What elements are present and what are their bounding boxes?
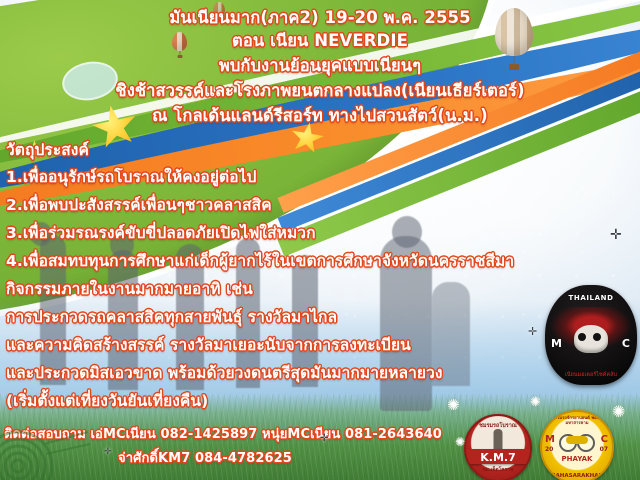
event-poster: มันเนียนมาก(ภาค2) 19-20 พ.ค. 2555 ตอน เน… [0, 0, 640, 480]
plus-marker-icon: ✛ [528, 326, 537, 337]
objective-item-2: 2.เพื่อพบปะสังสรรค์เพื่อนๆชาวคลาสสิค [6, 198, 272, 214]
phayak-arc-text: ชมรมรถจักรยานยนต์ พยัคฆ์มหาสารคาม [544, 416, 610, 425]
phayak-right-letter: C [601, 434, 608, 445]
skull-eye-right-icon [593, 333, 601, 341]
km7-badge: ชมรมรถโบราณ K.M.7 กม.เจ็ดโคราช [464, 414, 532, 480]
activity-line-4: และประกวดมิสเอวขาด พร้อมด้วยวงดนตรีสุดมั… [6, 366, 443, 382]
flower-icon: ✺ [455, 436, 465, 448]
plus-marker-icon: ✛ [320, 434, 328, 444]
spiral-decoration-icon [0, 414, 92, 480]
header-line-5: ณ โกลเด้นแลนด์รีสอร์ท ทางไปสวนสัตว์(น.ม.… [0, 108, 640, 125]
objective-item-1: 1.เพื่ออนุรักษ์รถโบราณให้คงอยู่ต่อไป [6, 170, 256, 186]
header-line-4: ชิงช้าสวรรค์และโรงภาพยนตกลางแปลง(เนียนเธ… [0, 83, 640, 100]
objectives-heading: วัตถุประสงค์ [6, 143, 89, 159]
header-line-3: พบกับงานย้อนยุคแบบเนียนๆ [0, 58, 640, 75]
skull-patch-right-letter: C [622, 337, 630, 350]
activity-line-3: และความคิดสร้างสรรค์ รางวัลมาเยอะนับจากก… [6, 338, 411, 354]
plus-marker-icon: ✛ [610, 228, 622, 242]
phayak-year-left: 20 [545, 446, 553, 453]
objective-item-4: 4.เพื่อสมทบทุนการศึกษาแก่เด็กผู้ยากไร้ใน… [6, 254, 514, 270]
km7-center-text: K.M.7 [466, 451, 530, 464]
contact-line-2: จ่าศักดิ์KM7 084-4782625 [118, 452, 292, 465]
plus-marker-icon: ✛ [104, 448, 112, 457]
motorcycle-icon [558, 432, 596, 452]
skull-eye-left-icon [578, 333, 586, 341]
km7-bottom-text: กม.เจ็ดโคราช [466, 466, 530, 474]
phayak-center-text: PHAYAK [542, 455, 612, 463]
header-line-1: มันเนียนมาก(ภาค2) 19-20 พ.ค. 2555 [0, 10, 640, 27]
activity-line-1: กิจกรรมภายในงานมากมายอาทิ เช่น [6, 282, 253, 298]
activity-line-5: (เริ่มตั้งแต่เที่ยงวันยันเที่ยงคืน) [6, 394, 208, 410]
skull-patch-sub-text: เนียนมอเตอร์ไซค์คลับ [545, 371, 637, 379]
skull-patch-left-letter: M [551, 337, 562, 350]
phayak-badge: ชมรมรถจักรยานยนต์ พยัคฆ์มหาสารคาม M C 20… [540, 410, 614, 480]
flower-icon: ✺ [612, 404, 625, 420]
silhouette-person-main-head [392, 216, 422, 248]
phayak-year-right: 07 [600, 446, 608, 453]
objective-item-3: 3.เพื่อร่วมรณรงค์ขับขี่ปลอดภัยเปิดไฟใส่ห… [6, 226, 316, 242]
flower-icon: ✺ [447, 398, 460, 413]
skull-patch-top-text: THAILAND [545, 294, 637, 302]
skull-patch-badge: THAILAND M C เนียนมอเตอร์ไซค์คลับ [545, 285, 637, 385]
activity-line-2: การประกวดรถคลาสสิคทุกสายพันธุ์ รางวัลมาไ… [6, 310, 337, 326]
km7-statue-icon [494, 429, 503, 450]
flower-icon: ✺ [530, 396, 541, 409]
phayak-left-letter: M [545, 434, 555, 445]
header-line-2: ตอน เนียน NEVERDIE [0, 33, 640, 50]
phayak-bottom-text: MAHASARAKHAM [542, 473, 612, 479]
